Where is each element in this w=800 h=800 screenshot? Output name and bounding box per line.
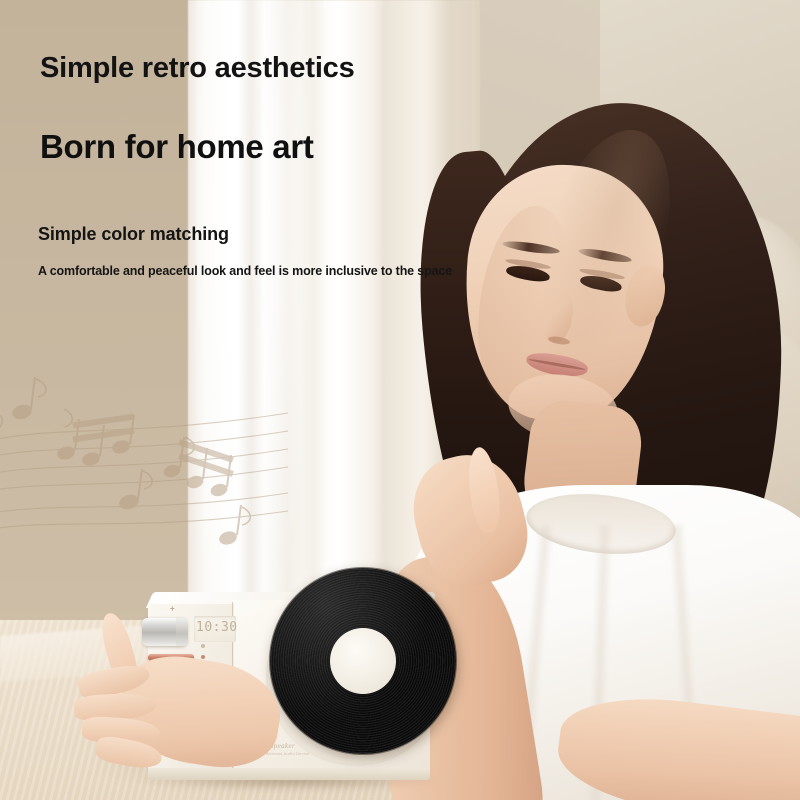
subheadline: Simple color matching	[38, 224, 229, 245]
scene-canvas: + 10:30 TimeBeat Speaker Bluetooth 5.0 W…	[0, 0, 800, 800]
body-text: A comfortable and peaceful look and feel…	[38, 264, 452, 278]
headline-secondary: Born for home art	[40, 128, 314, 166]
headline-primary: Simple retro aesthetics	[40, 52, 355, 85]
marketing-copy-overlay: Simple retro aesthetics Born for home ar…	[0, 0, 800, 800]
